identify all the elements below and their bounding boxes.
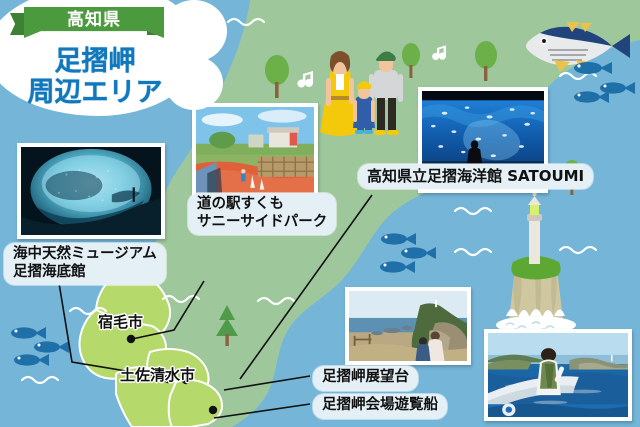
label-yuransen[interactable]: 足摺岬会場遊覧船 — [313, 394, 447, 419]
photo-kaitei-image — [21, 147, 161, 235]
photo-tenbodai[interactable] — [345, 287, 471, 365]
title-block: 高知県 足摺岬 周辺エリア — [0, 0, 215, 132]
prefecture-name: 高知県 — [67, 5, 121, 30]
photo-yuransen-image — [488, 333, 628, 417]
label-kaitei[interactable]: 海中天然ミュージアム 足摺海底館 — [4, 243, 166, 285]
prefecture-ribbon: 高知県 — [24, 7, 164, 38]
city-label-tosashimizu: 土佐清水市 — [120, 364, 195, 385]
label-satoumi[interactable]: 高知県立足摺海洋館 SATOUMI — [358, 164, 593, 189]
photo-tenbodai-image — [349, 291, 467, 361]
label-michinoeki[interactable]: 道の駅すくも サニーサイドパーク — [188, 193, 336, 235]
photo-yuransen[interactable] — [484, 329, 632, 421]
city-label-sukumo: 宿毛市 — [98, 311, 143, 332]
photo-kaitei[interactable] — [17, 143, 165, 239]
title-line-2: 周辺エリア — [0, 70, 190, 109]
map-illustration-canvas: 海中天然ミュージアム 足摺海底館 道の駅すくも サニーサイドパーク 高知県立足摺… — [0, 0, 640, 427]
label-tenbodai[interactable]: 足摺岬展望台 — [313, 366, 418, 391]
